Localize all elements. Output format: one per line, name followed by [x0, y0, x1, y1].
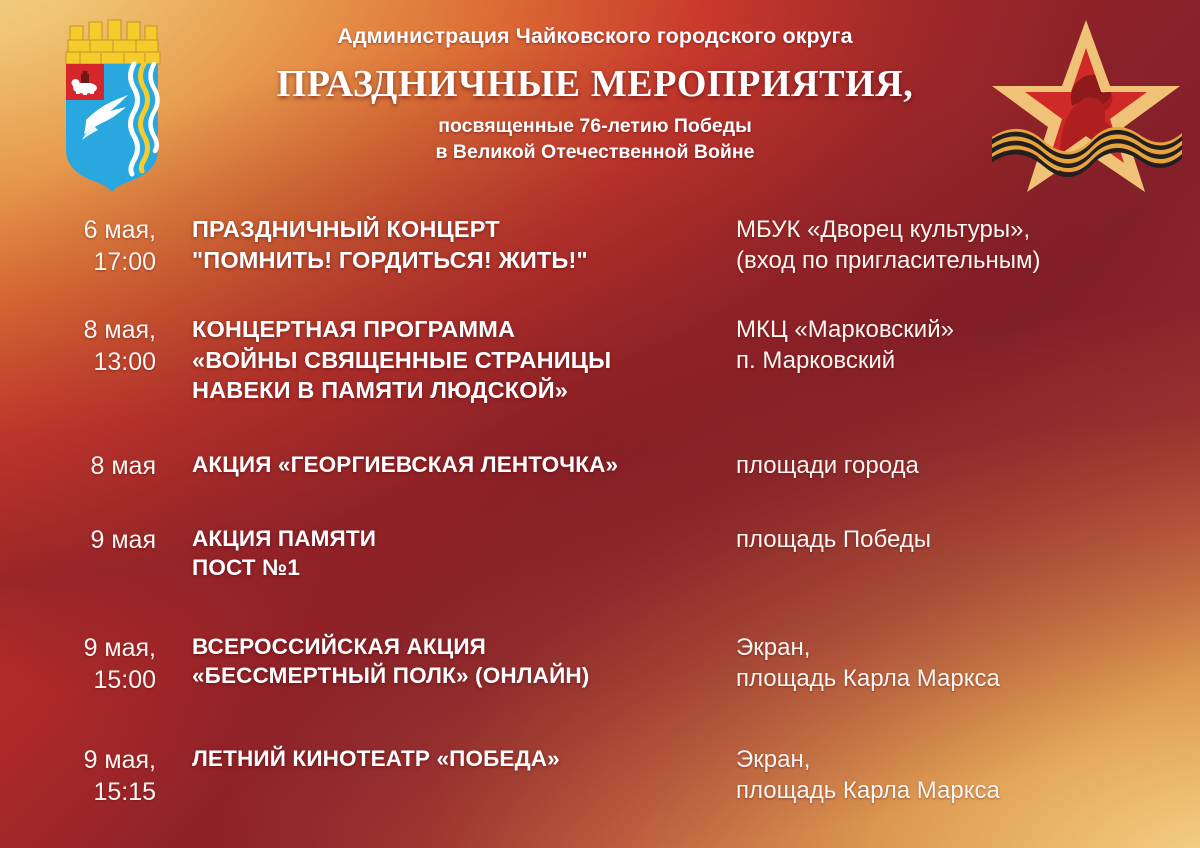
event-row: 6 мая, 17:00 ПРАЗДНИЧНЫЙ КОНЦЕРТ "ПОМНИТ… [0, 214, 1200, 278]
organization-name: Администрация Чайковского городского окр… [190, 24, 1000, 49]
event-title: ЛЕТНИЙ КИНОТЕАТР «ПОБЕДА» [170, 744, 730, 773]
events-schedule: 6 мая, 17:00 ПРАЗДНИЧНЫЙ КОНЦЕРТ "ПОМНИТ… [0, 198, 1200, 808]
event-date: 6 мая, 17:00 [0, 214, 170, 278]
event-venue: Экран, площадь Карла Маркса [730, 632, 1200, 694]
poster-background: Администрация Чайковского городского окр… [0, 0, 1200, 848]
event-date: 9 мая [0, 524, 170, 556]
event-venue: Экран, площадь Карла Маркса [730, 744, 1200, 806]
event-date: 8 мая [0, 450, 170, 482]
event-title: АКЦИЯ ПАМЯТИ ПОСТ №1 [170, 524, 730, 583]
poster-header: Администрация Чайковского городского окр… [0, 0, 1200, 198]
event-venue: площадь Победы [730, 524, 1200, 555]
subtitle-line-2: в Великой Отечественной Войне [190, 140, 1000, 166]
event-row: 9 мая, 15:00 ВСЕРОССИЙСКАЯ АКЦИЯ «БЕССМЕ… [0, 632, 1200, 696]
event-row: 9 мая АКЦИЯ ПАМЯТИ ПОСТ №1 площадь Побед… [0, 524, 1200, 583]
header-text-block: Администрация Чайковского городского окр… [190, 24, 1000, 165]
event-row: 9 мая, 15:15 ЛЕТНИЙ КИНОТЕАТР «ПОБЕДА» Э… [0, 744, 1200, 808]
event-date: 9 мая, 15:00 [0, 632, 170, 696]
event-date: 9 мая, 15:15 [0, 744, 170, 808]
event-row: 8 мая АКЦИЯ «ГЕОРГИЕВСКАЯ ЛЕНТОЧКА» площ… [0, 450, 1200, 482]
event-title: АКЦИЯ «ГЕОРГИЕВСКАЯ ЛЕНТОЧКА» [170, 450, 730, 479]
subtitle-line-1: посвященные 76-летию Победы [190, 114, 1000, 140]
event-title: ПРАЗДНИЧНЫЙ КОНЦЕРТ "ПОМНИТЬ! ГОРДИТЬСЯ!… [170, 214, 730, 275]
event-title: ВСЕРОССИЙСКАЯ АКЦИЯ «БЕССМЕРТНЫЙ ПОЛК» (… [170, 632, 730, 691]
page-title: ПРАЗДНИЧНЫЕ МЕРОПРИЯТИЯ, [190, 62, 1000, 106]
event-venue: МБУК «Дворец культуры», (вход по приглас… [730, 214, 1200, 276]
event-venue: МКЦ «Марковский» п. Марковский [730, 314, 1200, 376]
event-venue: площади города [730, 450, 1200, 481]
event-title: КОНЦЕРТНАЯ ПРОГРАММА «ВОЙНЫ СВЯЩЕННЫЕ СТ… [170, 314, 730, 406]
event-row: 8 мая, 13:00 КОНЦЕРТНАЯ ПРОГРАММА «ВОЙНЫ… [0, 314, 1200, 406]
poster-content: Администрация Чайковского городского окр… [0, 0, 1200, 848]
coat-of-arms-icon [56, 12, 168, 192]
event-date: 8 мая, 13:00 [0, 314, 170, 378]
victory-star-icon [986, 6, 1186, 192]
